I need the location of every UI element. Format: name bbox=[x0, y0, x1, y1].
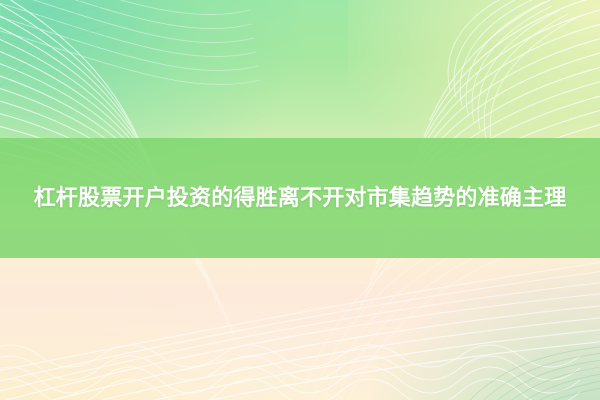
background-wash-bottom-left bbox=[0, 288, 270, 400]
background-wash-bottom-right bbox=[372, 264, 600, 400]
headline-band-inner: 杠杆股票开户投资的得胜离不开对市集趋势的准确主理 bbox=[0, 181, 600, 215]
banner-headline: 杠杆股票开户投资的得胜离不开对市集趋势的准确主理 bbox=[8, 181, 592, 215]
headline-band: 杠杆股票开户投资的得胜离不开对市集趋势的准确主理 bbox=[0, 138, 600, 258]
banner-image: 杠杆股票开户投资的得胜离不开对市集趋势的准确主理 bbox=[0, 0, 600, 400]
